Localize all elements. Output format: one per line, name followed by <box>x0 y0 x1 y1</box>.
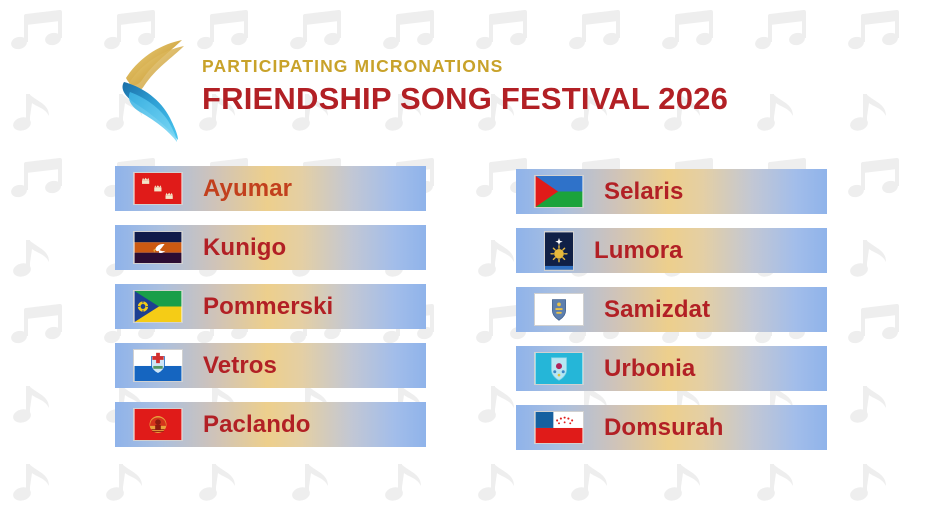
poster-header: PARTICIPATING MICRONATIONS FRIENDSHIP SO… <box>0 0 938 150</box>
nation-name-label: Kunigo <box>203 236 286 260</box>
poster-canvas: PARTICIPATING MICRONATIONS FRIENDSHIP SO… <box>0 0 938 526</box>
page-title: FRIENDSHIP SONG FESTIVAL 2026 <box>202 83 728 114</box>
nation-name-label: Paclando <box>203 413 311 437</box>
nation-row-pommerski[interactable]: Pommerski <box>115 284 426 329</box>
nation-row-kunigo[interactable]: Kunigo <box>115 225 426 270</box>
header-text-block: PARTICIPATING MICRONATIONS FRIENDSHIP SO… <box>202 58 728 114</box>
nation-name-label: Selaris <box>604 180 683 204</box>
nation-name-label: Lumora <box>594 239 683 263</box>
flag-pommerski-icon <box>133 290 183 323</box>
nation-name-label: Ayumar <box>203 177 292 201</box>
nation-name-label: Urbonia <box>604 357 695 381</box>
flag-domsurah-icon <box>534 411 584 444</box>
flag-urbonia-icon <box>534 352 584 385</box>
header-kicker: PARTICIPATING MICRONATIONS <box>202 58 728 76</box>
nation-row-vetros[interactable]: Vetros <box>115 343 426 388</box>
nation-row-paclando[interactable]: Paclando <box>115 402 426 447</box>
nation-row-samizdat[interactable]: Samizdat <box>516 287 827 332</box>
flag-kunigo-icon <box>133 231 183 264</box>
nation-row-ayumar[interactable]: Ayumar <box>115 166 426 211</box>
nation-row-urbonia[interactable]: Urbonia <box>516 346 827 391</box>
flag-vetros-icon <box>133 349 183 382</box>
nation-name-label: Pommerski <box>203 295 333 319</box>
nation-row-selaris[interactable]: Selaris <box>516 169 827 214</box>
nation-row-domsurah[interactable]: Domsurah <box>516 405 827 450</box>
nation-row-lumora[interactable]: Lumora <box>516 228 827 273</box>
nation-name-label: Domsurah <box>604 416 724 440</box>
flag-samizdat-icon <box>534 293 584 326</box>
nation-column-left: Ayumar Kunigo <box>115 166 426 461</box>
nation-column-right: Selaris <box>516 169 827 464</box>
ribbon-swoosh-logo <box>116 36 198 144</box>
flag-ayumar-icon <box>133 172 183 205</box>
nation-name-label: Vetros <box>203 354 277 378</box>
flag-selaris-icon <box>534 175 584 208</box>
flag-paclando-icon <box>133 408 183 441</box>
nation-name-label: Samizdat <box>604 298 710 322</box>
flag-lumora-icon <box>544 231 574 271</box>
